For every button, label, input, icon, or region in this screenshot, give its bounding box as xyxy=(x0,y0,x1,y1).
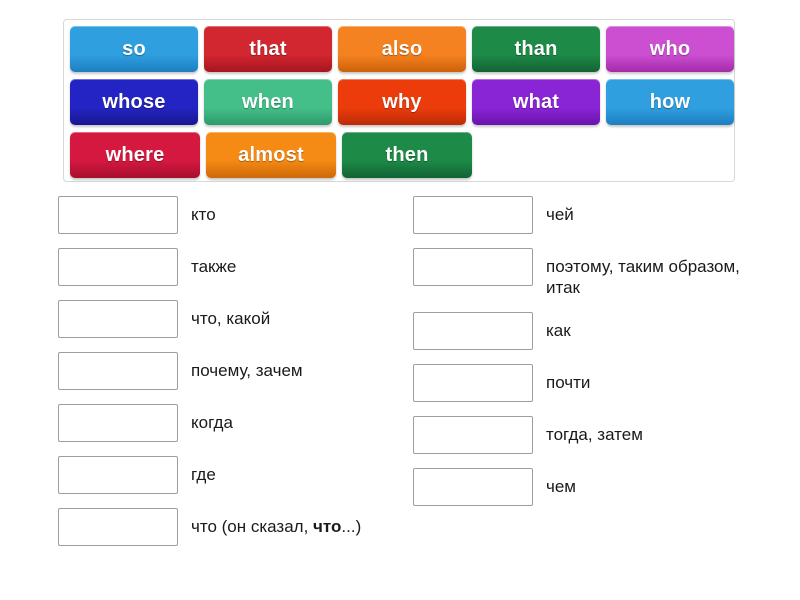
answer-drop-box[interactable] xyxy=(58,300,178,338)
match-label: чей xyxy=(546,196,574,225)
match-column-left: ктотакжечто, какойпочему, зачемкогдагдеч… xyxy=(58,196,388,560)
word-tile-what[interactable]: what xyxy=(472,79,600,125)
match-row: что (он сказал, что...) xyxy=(58,508,388,546)
word-tile-when[interactable]: when xyxy=(204,79,332,125)
word-tile-why[interactable]: why xyxy=(338,79,466,125)
match-row: когда xyxy=(58,404,388,442)
match-row: чей xyxy=(413,196,763,234)
match-row: что, какой xyxy=(58,300,388,338)
match-label: чем xyxy=(546,468,576,497)
word-tile-almost[interactable]: almost xyxy=(206,132,336,178)
answer-drop-box[interactable] xyxy=(413,468,533,506)
match-row: поэтому, таким образом, итак xyxy=(413,248,763,298)
match-label: почему, зачем xyxy=(191,352,303,381)
answer-drop-box[interactable] xyxy=(58,456,178,494)
answer-drop-box[interactable] xyxy=(413,416,533,454)
word-bank-container: sothatalsothanwhowhosewhenwhywhathowwher… xyxy=(63,19,735,182)
word-tile-then[interactable]: then xyxy=(342,132,472,178)
word-tile-row: sothatalsothanwho xyxy=(64,26,734,79)
match-label: когда xyxy=(191,404,233,433)
match-label: что (он сказал, что...) xyxy=(191,508,361,537)
match-label: где xyxy=(191,456,216,485)
word-tile-also[interactable]: also xyxy=(338,26,466,72)
match-row: как xyxy=(413,312,763,350)
word-tile-row: wherealmostthen xyxy=(64,132,734,185)
match-label: поэтому, таким образом, итак xyxy=(546,248,751,298)
answer-drop-box[interactable] xyxy=(413,312,533,350)
match-column-right: чейпоэтому, таким образом, итаккакпочтит… xyxy=(413,196,763,520)
match-row: почти xyxy=(413,364,763,402)
word-tile-whose[interactable]: whose xyxy=(70,79,198,125)
match-label: тогда, затем xyxy=(546,416,643,445)
word-tile-row: whosewhenwhywhathow xyxy=(64,79,734,132)
match-row: почему, зачем xyxy=(58,352,388,390)
word-tile-so[interactable]: so xyxy=(70,26,198,72)
match-label: почти xyxy=(546,364,590,393)
match-label: кто xyxy=(191,196,216,225)
match-row: где xyxy=(58,456,388,494)
match-label: что, какой xyxy=(191,300,270,329)
match-row: чем xyxy=(413,468,763,506)
match-row: также xyxy=(58,248,388,286)
answer-drop-box[interactable] xyxy=(58,352,178,390)
answer-drop-box[interactable] xyxy=(58,508,178,546)
word-tile-who[interactable]: who xyxy=(606,26,734,72)
answer-drop-box[interactable] xyxy=(413,248,533,286)
word-tile-how[interactable]: how xyxy=(606,79,734,125)
match-label: как xyxy=(546,312,571,341)
answer-drop-box[interactable] xyxy=(413,196,533,234)
word-tile-than[interactable]: than xyxy=(472,26,600,72)
answer-drop-box[interactable] xyxy=(58,196,178,234)
answer-drop-box[interactable] xyxy=(413,364,533,402)
match-label: также xyxy=(191,248,236,277)
match-row: тогда, затем xyxy=(413,416,763,454)
answer-drop-box[interactable] xyxy=(58,404,178,442)
word-tile-where[interactable]: where xyxy=(70,132,200,178)
match-label-emphasis: что xyxy=(313,517,341,536)
word-tile-that[interactable]: that xyxy=(204,26,332,72)
match-row: кто xyxy=(58,196,388,234)
answer-drop-box[interactable] xyxy=(58,248,178,286)
